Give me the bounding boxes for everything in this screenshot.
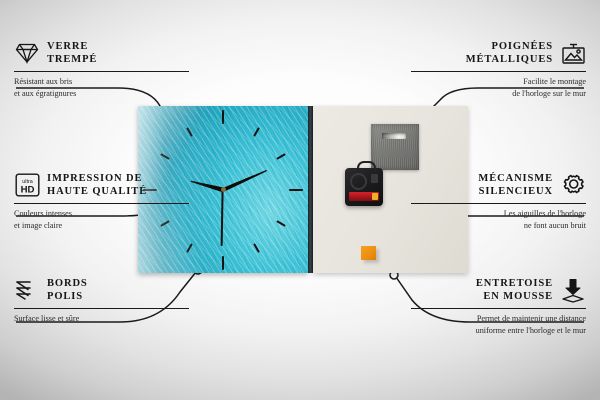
feature-subtitle: Les aiguilles de l'horloge ne font aucun… bbox=[411, 208, 586, 231]
clock-mechanism bbox=[345, 168, 383, 206]
clock-tick bbox=[222, 110, 224, 124]
clock-tick bbox=[186, 127, 193, 137]
diamond-icon bbox=[14, 40, 40, 66]
clock-second-hand bbox=[221, 189, 224, 245]
ultra-hd-icon: ultra HD bbox=[14, 172, 40, 198]
clock-tick bbox=[276, 153, 286, 160]
feature-subtitle: Facilite le montage de l'horloge sur le … bbox=[411, 76, 586, 99]
feature-title-line2: MÉTALLIQUES bbox=[466, 53, 553, 66]
clock-tick bbox=[160, 153, 170, 160]
feature-sub-line1: Couleurs intenses bbox=[14, 208, 189, 220]
mechanism-hanger-loop bbox=[357, 161, 376, 173]
feature-sub-line2: uniforme entre l'horloge et le mur bbox=[411, 325, 586, 337]
feature-title-line2: HAUTE QUALITÉ bbox=[47, 185, 147, 198]
feature-sub-line1: Résistant aux bris bbox=[14, 76, 189, 88]
clock-tick bbox=[253, 127, 260, 137]
feature-poignees-metalliques: POIGNÉES MÉTALLIQUES Facilite le montage bbox=[411, 40, 586, 100]
clock-tick bbox=[222, 256, 224, 270]
feature-header: ultra HD IMPRESSION DE HAUTE QUALITÉ bbox=[14, 172, 189, 199]
infographic-canvas: VERRE TREMPÉ Résistant aux bris et aux é… bbox=[0, 0, 600, 400]
hanger-slot bbox=[382, 133, 406, 139]
clock-tick bbox=[276, 220, 286, 227]
feature-title: MÉCANISME SILENCIEUX bbox=[478, 172, 553, 199]
feature-title: ENTRETOISE EN MOUSSE bbox=[476, 277, 553, 304]
feature-bords-polis: BORDS POLIS Surface lisse et sûre bbox=[14, 277, 189, 325]
feature-title-line2: EN MOUSSE bbox=[476, 290, 553, 303]
spacer-arrow-icon bbox=[560, 277, 586, 303]
feature-divider bbox=[14, 308, 189, 309]
feature-subtitle: Surface lisse et sûre bbox=[14, 313, 189, 325]
feature-title-line1: BORDS bbox=[47, 277, 88, 290]
feature-divider bbox=[411, 203, 586, 204]
feature-sub-line1: Les aiguilles de l'horloge bbox=[411, 208, 586, 220]
polished-edges-icon bbox=[14, 277, 40, 303]
feature-divider bbox=[411, 308, 586, 309]
feature-subtitle: Résistant aux bris et aux égratignures bbox=[14, 76, 189, 99]
feature-title-line2: TREMPÉ bbox=[47, 53, 97, 66]
feature-title: VERRE TREMPÉ bbox=[47, 40, 97, 67]
feature-title-line2: POLIS bbox=[47, 290, 88, 303]
gear-icon bbox=[560, 172, 586, 198]
mechanism-button bbox=[371, 174, 378, 183]
feature-title-line1: ENTRETOISE bbox=[476, 277, 553, 290]
feature-entretoise-en-mousse: ENTRETOISE EN MOUSSE Permet de maintenir… bbox=[411, 277, 586, 337]
foam-spacer bbox=[361, 246, 376, 260]
feature-title-line2: SILENCIEUX bbox=[478, 185, 553, 198]
feature-title-line1: POIGNÉES bbox=[466, 40, 553, 53]
feature-verre-trempe: VERRE TREMPÉ Résistant aux bris et aux é… bbox=[14, 40, 189, 100]
feature-sub-line2: et image claire bbox=[14, 220, 189, 232]
feature-title-line1: MÉCANISME bbox=[478, 172, 553, 185]
feature-mecanisme-silencieux: MÉCANISME SILENCIEUX Les aiguilles de l'… bbox=[411, 172, 586, 232]
feature-sub-line2: ne font aucun bruit bbox=[411, 220, 586, 232]
metal-hanger-plate bbox=[371, 124, 419, 170]
feature-title: BORDS POLIS bbox=[47, 277, 88, 304]
svg-text:HD: HD bbox=[20, 185, 34, 196]
battery-positive-terminal bbox=[372, 193, 378, 200]
wall-hanger-icon bbox=[560, 40, 586, 66]
feature-header: ENTRETOISE EN MOUSSE bbox=[411, 277, 586, 304]
feature-title: POIGNÉES MÉTALLIQUES bbox=[466, 40, 553, 67]
feature-title-line1: VERRE bbox=[47, 40, 97, 53]
clock-hour-hand bbox=[190, 178, 224, 192]
feature-impression-haute-qualite: ultra HD IMPRESSION DE HAUTE QUALITÉ Cou… bbox=[14, 172, 189, 232]
feature-title-line1: IMPRESSION DE bbox=[47, 172, 147, 185]
clock-tick bbox=[186, 243, 193, 253]
clock-tick bbox=[289, 189, 303, 191]
feature-header: VERRE TREMPÉ bbox=[14, 40, 189, 67]
feature-sub-line2: de l'horloge sur le mur bbox=[411, 88, 586, 100]
feature-title: IMPRESSION DE HAUTE QUALITÉ bbox=[47, 172, 147, 199]
battery bbox=[349, 192, 379, 201]
feature-header: POIGNÉES MÉTALLIQUES bbox=[411, 40, 586, 67]
feature-divider bbox=[14, 71, 189, 72]
clock-tick bbox=[253, 243, 260, 253]
feature-subtitle: Couleurs intenses et image claire bbox=[14, 208, 189, 231]
feature-header: BORDS POLIS bbox=[14, 277, 189, 304]
clock-minute-hand bbox=[222, 168, 267, 191]
feature-sub-line1: Surface lisse et sûre bbox=[14, 313, 189, 325]
feature-sub-line1: Permet de maintenir une distance bbox=[411, 313, 586, 325]
feature-header: MÉCANISME SILENCIEUX bbox=[411, 172, 586, 199]
feature-sub-line1: Facilite le montage bbox=[411, 76, 586, 88]
feature-sub-line2: et aux égratignures bbox=[14, 88, 189, 100]
clock-center-cap bbox=[221, 187, 226, 192]
mechanism-setting-dial bbox=[350, 173, 367, 190]
feature-divider bbox=[14, 203, 189, 204]
feature-subtitle: Permet de maintenir une distance uniform… bbox=[411, 313, 586, 336]
feature-divider bbox=[411, 71, 586, 72]
